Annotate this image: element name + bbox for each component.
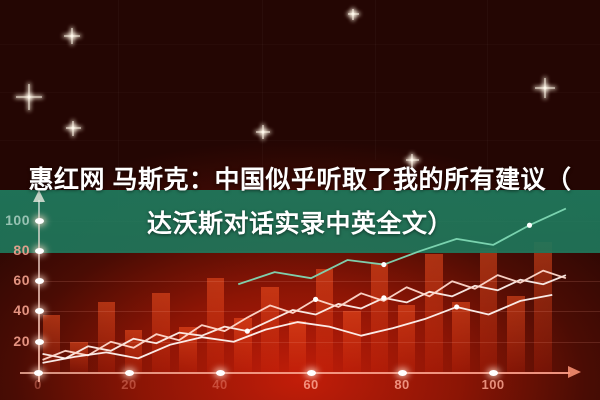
x-tick-label: 20 <box>109 377 149 392</box>
x-tick-label: 100 <box>473 377 513 392</box>
chart-point-marker <box>381 262 386 267</box>
chart-line <box>43 275 566 358</box>
chart-line <box>43 271 566 360</box>
x-tick-dot <box>489 370 498 376</box>
y-tick-label: 60 <box>0 272 30 288</box>
y-tick-label: 20 <box>0 333 30 349</box>
x-tick-label: 60 <box>291 377 331 392</box>
title-line-1: 惠红网 马斯克：中国似乎听取了我的所有建议（ <box>0 158 600 202</box>
y-tick-label: 40 <box>0 302 30 318</box>
chart-point-marker <box>454 304 459 309</box>
chart-point-marker <box>245 329 250 334</box>
x-tick-dot <box>216 370 225 376</box>
x-tick-dot <box>307 370 316 376</box>
chart-point-marker <box>381 295 386 300</box>
y-tick-dot <box>35 248 44 254</box>
y-tick-dot <box>35 339 44 345</box>
title-line-2: 达沃斯对话实录中英全文） <box>0 202 600 246</box>
x-tick-label: 40 <box>200 377 240 392</box>
x-tick-dot <box>398 370 407 376</box>
chart-point-marker <box>313 297 318 302</box>
x-tick-label: 0 <box>18 377 58 392</box>
x-axis-line <box>20 372 570 374</box>
banner-image: 10080604020 020406080100 惠红网 马斯克：中国似乎听取了… <box>0 0 600 400</box>
x-tick-dot <box>34 370 43 376</box>
chart-line <box>43 295 553 363</box>
x-tick-dot <box>125 370 134 376</box>
page-title: 惠红网 马斯克：中国似乎听取了我的所有建议（ 达沃斯对话实录中英全文） <box>0 158 600 246</box>
x-tick-label: 80 <box>382 377 422 392</box>
x-axis-arrow-icon <box>568 366 581 378</box>
